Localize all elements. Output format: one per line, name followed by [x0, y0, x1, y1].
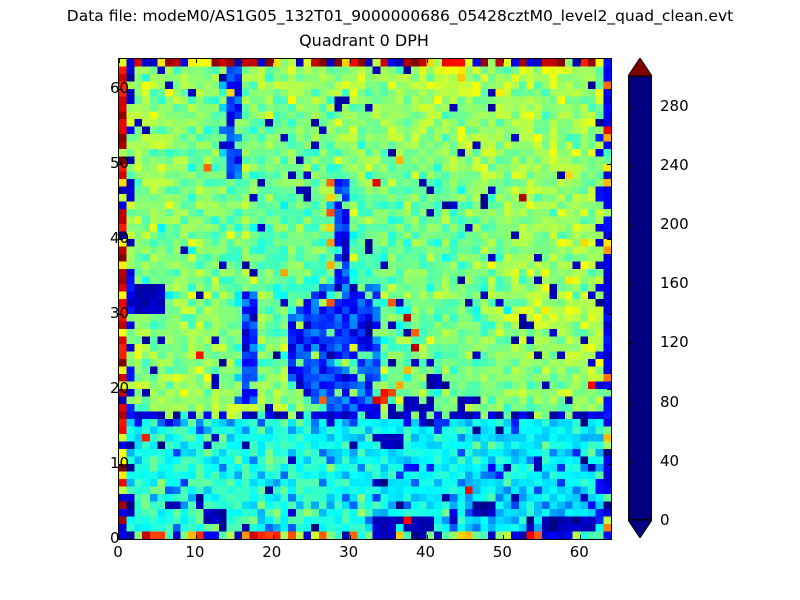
y-tick-10	[607, 464, 611, 465]
colorbar-tick-40	[629, 462, 634, 463]
y-tick-0	[119, 539, 123, 540]
y-tick-label-0: 0	[110, 529, 120, 547]
x-tick-50	[503, 535, 504, 539]
y-tick-50	[607, 164, 611, 165]
colorbar-label-280: 280	[660, 97, 689, 115]
x-tick-10	[196, 535, 197, 539]
x-tick-label-20: 20	[262, 543, 281, 561]
colorbar-label-40: 40	[660, 452, 679, 470]
x-tick-label-50: 50	[493, 543, 512, 561]
x-tick-0	[119, 59, 120, 63]
x-tick-label-40: 40	[416, 543, 435, 561]
x-tick-20	[273, 59, 274, 63]
y-tick-label-20: 20	[110, 379, 129, 397]
colorbar-label-240: 240	[660, 156, 689, 174]
colorbar-under-arrow-icon	[628, 520, 652, 538]
colorbar-tick-200	[629, 225, 634, 226]
colorbar-label-80: 80	[660, 393, 679, 411]
y-tick-20	[607, 389, 611, 390]
colorbar-tick-280	[629, 107, 634, 108]
heatmap-image[interactable]	[119, 59, 611, 539]
x-tick-30	[350, 59, 351, 63]
x-tick-label-60: 60	[570, 543, 589, 561]
x-tick-30	[350, 535, 351, 539]
colorbar-gradient[interactable]	[628, 76, 652, 520]
x-tick-60	[580, 59, 581, 63]
colorbar-tick-80	[629, 403, 634, 404]
y-tick-0	[607, 539, 611, 540]
colorbar-label-0: 0	[660, 511, 670, 529]
colorbar-label-120: 120	[660, 333, 689, 351]
x-tick-10	[196, 59, 197, 63]
x-tick-label-30: 30	[339, 543, 358, 561]
x-tick-60	[580, 535, 581, 539]
y-tick-40	[607, 239, 611, 240]
y-tick-label-60: 60	[110, 79, 129, 97]
colorbar-label-200: 200	[660, 215, 689, 233]
x-tick-50	[503, 59, 504, 63]
axes-title: Quadrant 0 DPH	[118, 31, 610, 51]
y-tick-label-10: 10	[110, 454, 129, 472]
figure-canvas: Data file: modeM0/AS1G05_132T01_90000006…	[0, 0, 800, 600]
colorbar-tick-240	[629, 166, 634, 167]
y-tick-60	[607, 89, 611, 90]
y-tick-label-50: 50	[110, 154, 129, 172]
colorbar-label-160: 160	[660, 274, 689, 292]
figure-suptitle: Data file: modeM0/AS1G05_132T01_90000006…	[0, 6, 800, 26]
heatmap-axes[interactable]	[118, 58, 612, 540]
x-tick-40	[427, 59, 428, 63]
x-tick-20	[273, 535, 274, 539]
x-tick-40	[427, 535, 428, 539]
y-tick-label-30: 30	[110, 304, 129, 322]
colorbar-tick-120	[629, 343, 634, 344]
colorbar-over-arrow-icon	[628, 58, 652, 76]
colorbar-tick-160	[629, 284, 634, 285]
y-tick-label-40: 40	[110, 229, 129, 247]
y-tick-30	[607, 314, 611, 315]
colorbar[interactable]	[628, 58, 652, 538]
x-tick-label-10: 10	[185, 543, 204, 561]
